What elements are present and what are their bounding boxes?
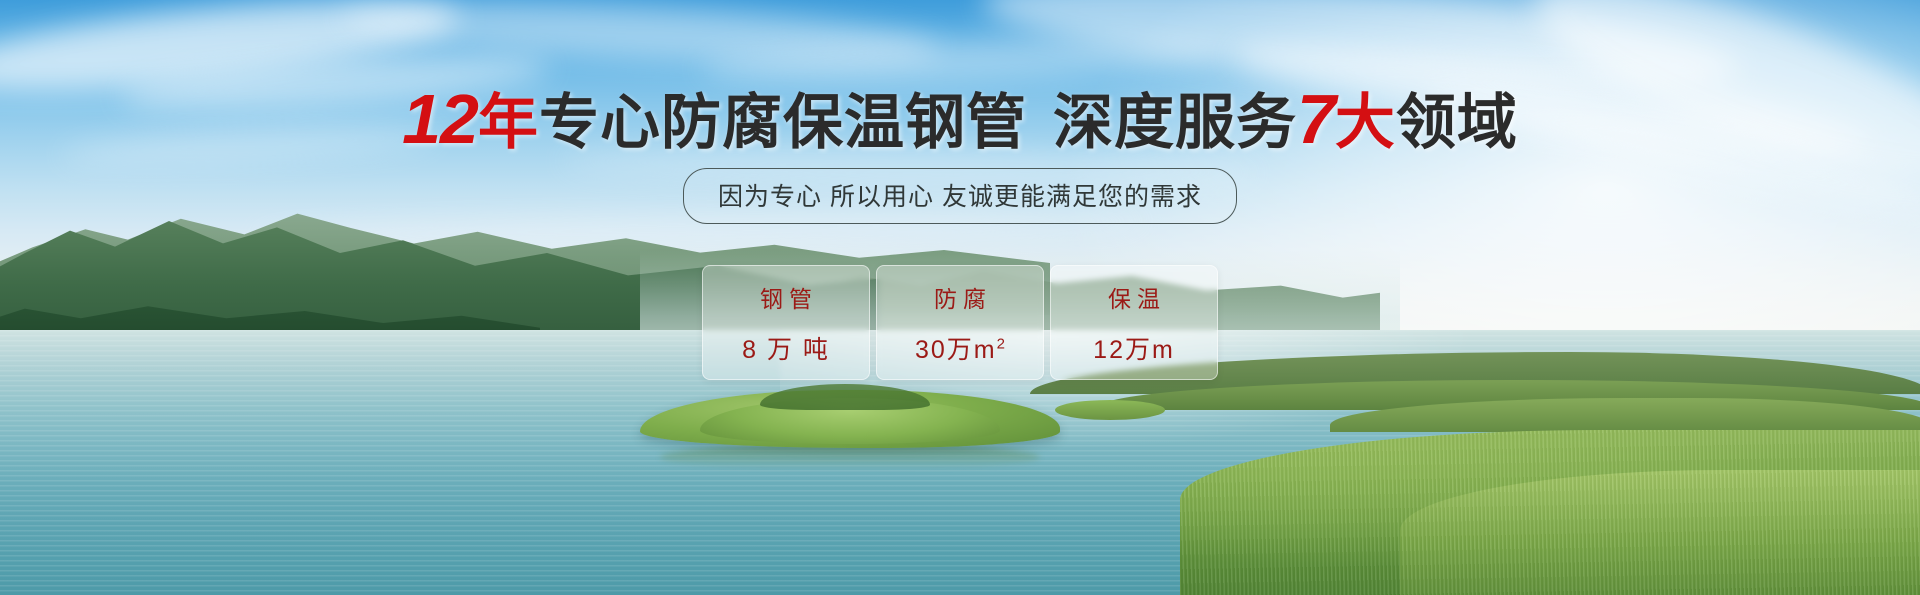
headline-service-text: 深度服务 [1053, 89, 1297, 156]
stat-card-insulation[interactable]: 保温 12万m [1050, 265, 1218, 380]
banner-headline: 12年专心防腐保温钢管深度服务7大领域 [0, 84, 1920, 154]
banner-content: 12年专心防腐保温钢管深度服务7大领域 因为专心 所以用心 友诚更能满足您的需求… [0, 0, 1920, 595]
hero-banner: 12年专心防腐保温钢管深度服务7大领域 因为专心 所以用心 友诚更能满足您的需求… [0, 0, 1920, 595]
stat-card-title: 保温 [1102, 280, 1166, 314]
headline-years-unit: 年 [478, 89, 539, 156]
stat-card-value: 30万m2 [915, 330, 1005, 366]
headline-years-number: 12 [402, 80, 478, 158]
headline-fields-number: 7 [1297, 80, 1335, 158]
stat-card-value: 12万m [1093, 330, 1175, 366]
stat-value-main: 8 万 吨 [742, 336, 830, 364]
headline-fields-text: 领域 [1396, 89, 1518, 156]
stat-value-main: 30万m [915, 336, 997, 364]
headline-main-text: 专心防腐保温钢管 [539, 89, 1027, 156]
headline-fields-unit: 大 [1335, 89, 1396, 156]
stat-card-anticorrosion[interactable]: 防腐 30万m2 [876, 265, 1044, 380]
banner-subtitle-wrap: 因为专心 所以用心 友诚更能满足您的需求 [0, 168, 1920, 224]
stat-card-steel-pipe[interactable]: 钢管 8 万 吨 [702, 265, 870, 380]
banner-subtitle-pill: 因为专心 所以用心 友诚更能满足您的需求 [683, 168, 1237, 224]
stat-value-main: 12万m [1093, 336, 1175, 364]
stat-card-value: 8 万 吨 [742, 330, 830, 366]
stat-card-title: 防腐 [928, 280, 992, 314]
stats-card-group: 钢管 8 万 吨 防腐 30万m2 保温 12万m [0, 265, 1920, 380]
stat-value-superscript: 2 [997, 335, 1005, 352]
stat-card-title: 钢管 [754, 280, 818, 314]
